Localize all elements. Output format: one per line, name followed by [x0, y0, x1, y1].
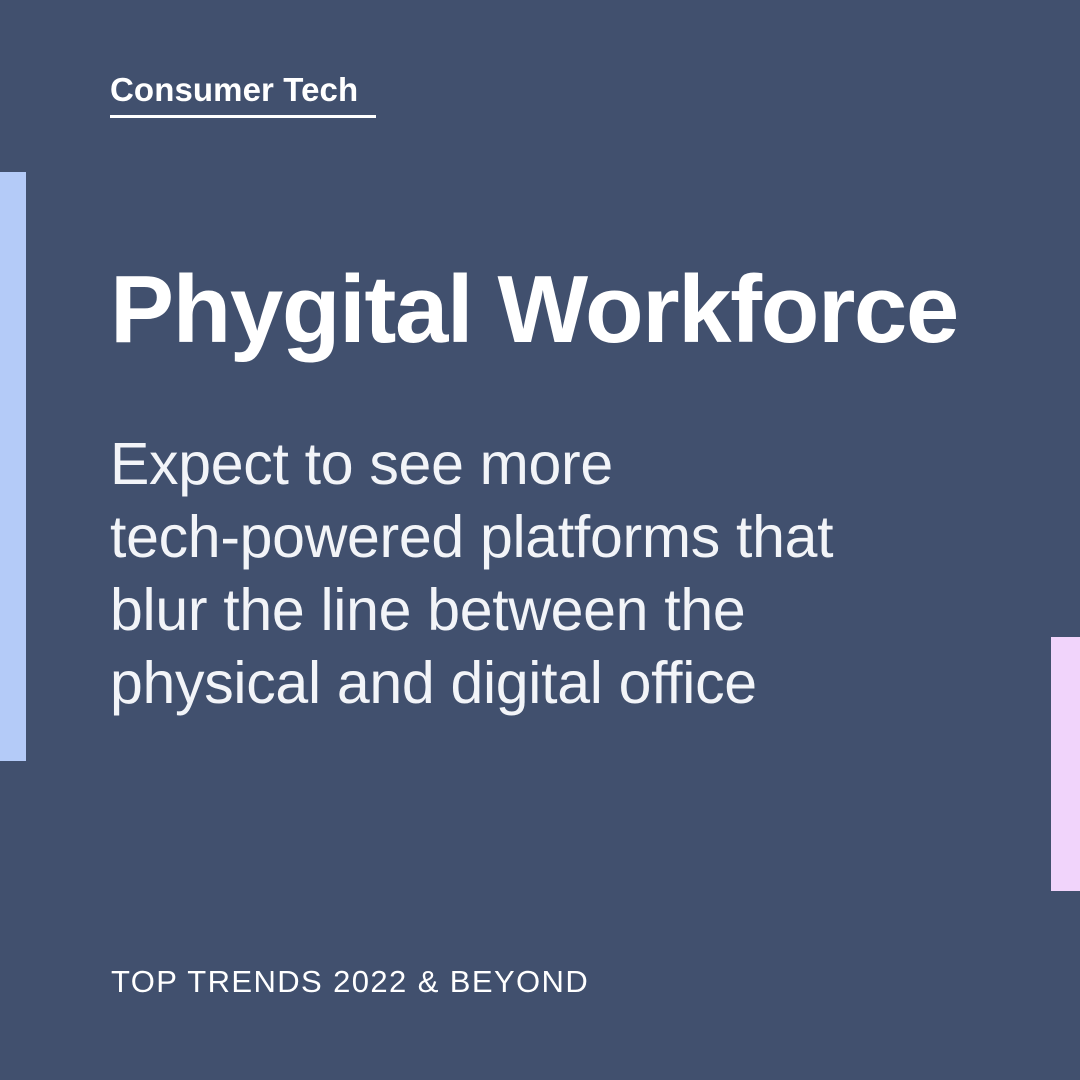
accent-bar-left	[0, 172, 26, 761]
body-copy: Expect to see more tech-powered platform…	[110, 428, 1000, 720]
accent-bar-right	[1051, 637, 1080, 891]
body-copy-line: tech-powered platforms that	[110, 501, 1000, 574]
footer-caption: TOP TRENDS 2022 & BEYOND	[111, 963, 589, 1001]
body-copy-line: physical and digital office	[110, 647, 1000, 720]
category-underline-rule	[110, 115, 376, 118]
category-eyebrow: Consumer Tech	[110, 70, 376, 118]
body-copy-line: blur the line between the	[110, 574, 1000, 647]
body-copy-line: Expect to see more	[110, 428, 1000, 501]
category-label: Consumer Tech	[110, 70, 376, 110]
page-title: Phygital Workforce	[110, 258, 990, 362]
trend-card: Consumer Tech Phygital Workforce Expect …	[0, 0, 1080, 1080]
